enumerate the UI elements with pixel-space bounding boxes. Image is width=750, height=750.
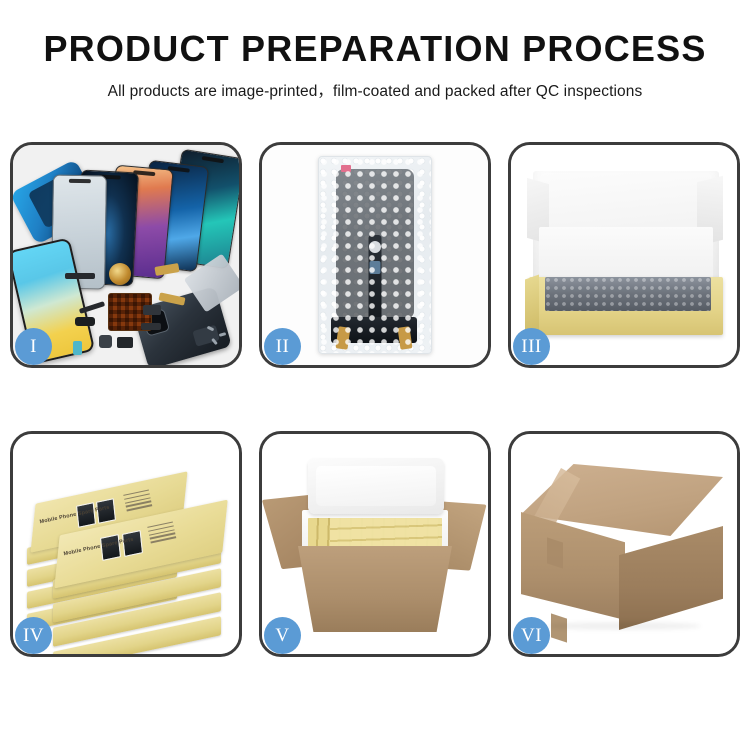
step-image-4: Mobile Phone Spare Parts Mobile Phone Sp… [13,434,239,654]
step-panel-5: V [259,431,491,657]
inner-kraft-box [525,171,723,337]
step-panel-6: VI [508,431,740,657]
bubble-wrap-bag [318,156,432,354]
screws-group [207,325,233,347]
gold-contact-left [336,326,351,349]
step-image-1 [13,145,239,365]
step-panel-4: Mobile Phone Spare Parts Mobile Phone Sp… [10,431,242,657]
chip-part [73,341,82,355]
carton-seam [547,537,563,568]
step-numeral: VI [521,625,542,647]
part-strip [75,317,95,326]
step-panel-2: II [259,142,491,368]
step-badge-1: I [15,328,52,365]
part-strip [117,337,133,348]
step-image-2 [262,145,488,365]
step-numeral: II [276,336,290,358]
flex-cable [141,323,161,330]
wrapped-contents [545,277,711,311]
step-panel-3: III [508,142,740,368]
step-badge-6: VI [513,617,550,654]
step-image-5 [262,434,488,654]
carton-body [298,546,452,632]
foam-box-lid [308,458,444,514]
copper-coil-part [109,263,131,285]
connector-dot [369,241,381,253]
step-badge-3: III [513,328,550,365]
step-image-6 [511,434,737,654]
step-panel-1: I [10,142,242,368]
carton-shadow [547,622,701,630]
step-image-3 [511,145,737,365]
sealed-carton [517,456,731,636]
part-strip [99,335,112,348]
step-numeral: I [30,336,37,358]
step-badge-5: V [264,617,301,654]
chip-part [143,305,161,315]
open-carton [272,452,478,640]
step-numeral: III [521,336,541,358]
step-badge-4: IV [15,617,52,654]
notch [202,156,224,163]
carton-right-face [619,526,723,630]
page-title: PRODUCT PREPARATION PROCESS [0,30,750,68]
step-badge-2: II [264,328,301,365]
carton-left-face [521,512,625,620]
step-numeral: V [275,625,289,647]
steps-grid: I II [10,142,740,657]
driver-chip [370,261,381,274]
notch [69,179,91,183]
qc-label-sticker [341,165,351,172]
box-stack: Mobile Phone Spare Parts Mobile Phone Sp… [21,448,233,646]
product-preparation-infographic: PRODUCT PREPARATION PROCESS All products… [0,0,750,750]
step-numeral: IV [23,625,44,647]
page-subtitle: All products are image-printed，film-coat… [0,79,750,101]
part-strip [65,273,95,279]
header: PRODUCT PREPARATION PROCESS All products… [0,0,750,101]
